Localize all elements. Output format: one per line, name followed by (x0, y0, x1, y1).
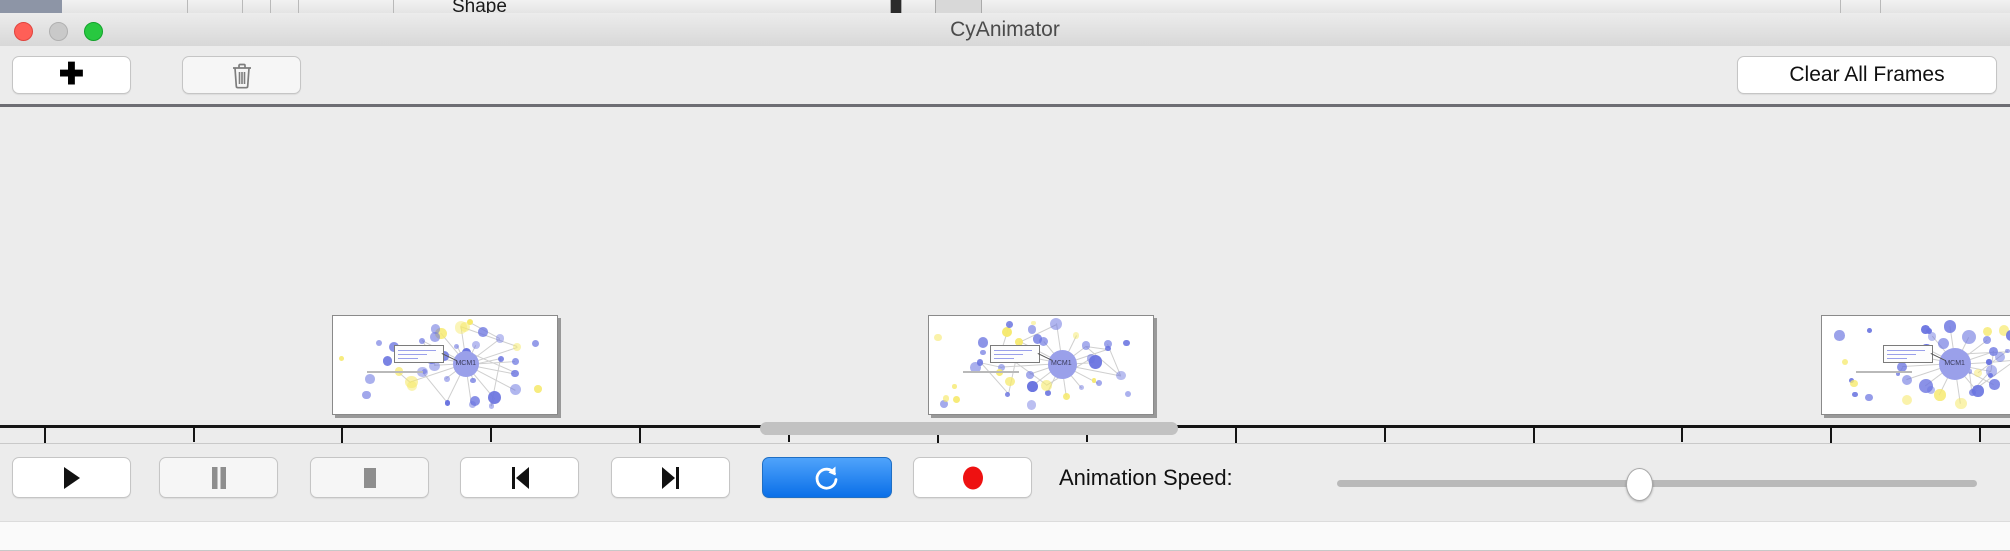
tick-minor (193, 428, 195, 442)
network-node (510, 384, 521, 395)
play-button[interactable] (12, 457, 131, 498)
network-node (470, 378, 476, 384)
network-node (1989, 379, 1999, 389)
network-hub-label: MCM1 (455, 360, 476, 367)
network-node (532, 340, 539, 347)
network-node (1050, 318, 1063, 331)
annotation-text-line (994, 350, 1032, 351)
network-node (362, 391, 370, 399)
network-node (1944, 320, 1956, 332)
network-node (339, 356, 344, 361)
network-node (511, 370, 519, 378)
tick-minor (1681, 428, 1683, 442)
network-node (472, 341, 480, 349)
skip-start-icon (508, 466, 532, 490)
annotation-text-line (994, 354, 1023, 355)
tick-minor (1384, 428, 1386, 442)
clear-all-frames-label: Clear All Frames (1789, 63, 1944, 87)
network-node (1028, 325, 1037, 334)
timeline-scroll-track[interactable] (0, 521, 2010, 551)
network-node (1125, 391, 1131, 397)
network-node (1005, 377, 1015, 387)
annotation-text-line (398, 358, 418, 359)
annotation-text-line (398, 354, 427, 355)
animation-speed-label: Animation Speed: (1059, 465, 1233, 491)
network-node (1865, 394, 1873, 402)
title-bar[interactable]: CyAnimator (0, 13, 2010, 47)
trash-icon (230, 62, 254, 89)
network-hub-label: MCM1 (1944, 360, 1965, 367)
clear-all-frames-button[interactable]: Clear All Frames (1737, 56, 1997, 94)
network-node (1955, 398, 1966, 409)
network-node (1005, 392, 1010, 397)
plus-icon: ✚ (59, 60, 84, 90)
skip-end-icon (659, 466, 683, 490)
network-node (496, 334, 504, 342)
network-annotation (990, 345, 1040, 363)
network-node (1988, 373, 1993, 378)
background-window-sidebar (0, 0, 62, 13)
network-node (1027, 381, 1038, 392)
network-node (1850, 380, 1858, 388)
background-window-segment (270, 0, 299, 13)
play-icon (62, 466, 82, 490)
annotation-text-line (1887, 350, 1925, 351)
network-node (1087, 354, 1096, 363)
stop-button[interactable] (310, 457, 429, 498)
network-node (980, 350, 985, 355)
network-node (1123, 340, 1129, 346)
network-node (445, 400, 451, 406)
network-node (1867, 328, 1872, 333)
network-node (1962, 330, 1976, 344)
network-node (1902, 375, 1913, 386)
network-node (489, 403, 495, 409)
network-node (1986, 359, 1991, 364)
background-window-marker (890, 0, 902, 13)
annotation-text-line (1887, 358, 1907, 359)
playback-controls: Animation Speed: (0, 443, 2010, 511)
annotation-text-line (1887, 354, 1916, 355)
network-node (1852, 392, 1857, 397)
skip-end-button[interactable] (611, 457, 730, 498)
network-thumbnail: MCM1 (929, 316, 1153, 414)
network-node (1104, 340, 1112, 348)
network-node (1834, 330, 1845, 341)
network-node (1983, 336, 1991, 344)
record-icon (961, 465, 985, 491)
network-thumbnail: MCM1 (1822, 316, 2010, 414)
stop-icon (360, 466, 380, 490)
network-node (1116, 371, 1125, 380)
network-node (1073, 332, 1080, 339)
network-node (470, 396, 480, 406)
timeline-frame[interactable]: MCM1 (332, 315, 558, 415)
pause-icon (209, 466, 229, 490)
network-annotation (394, 345, 444, 363)
cyanimator-window: Shape CyAnimator ✚ Clear All Frame (0, 0, 2010, 510)
network-node (1002, 327, 1012, 337)
loop-button[interactable] (762, 457, 892, 498)
network-node (534, 385, 542, 393)
network-node (1096, 380, 1102, 386)
background-window-segment (242, 0, 271, 13)
network-caption (367, 371, 423, 373)
network-node (2006, 330, 2010, 341)
network-node (978, 337, 988, 347)
network-node (512, 358, 519, 365)
network-caption (963, 371, 1019, 373)
background-window-segment (298, 0, 394, 13)
network-node (1006, 321, 1013, 328)
network-node (365, 374, 375, 384)
network-node (407, 381, 417, 391)
network-node (1063, 393, 1070, 400)
background-window-label: Shape (452, 0, 507, 13)
network-node (953, 396, 960, 403)
network-node (2005, 349, 2009, 353)
network-node (943, 395, 949, 401)
network-node (1045, 390, 1051, 396)
network-node (1027, 400, 1037, 410)
network-caption (1856, 371, 1912, 373)
network-node (1041, 380, 1052, 391)
network-node (1092, 378, 1097, 383)
background-window-segment (1840, 0, 1881, 13)
network-node (1938, 338, 1949, 349)
network-node (430, 332, 440, 342)
timeline-scroll-thumb[interactable] (760, 422, 1178, 435)
network-node (460, 322, 470, 332)
network-node (376, 340, 382, 346)
animation-speed-slider[interactable] (1337, 480, 1977, 487)
timeline-frame[interactable]: MCM1 (1821, 315, 2010, 415)
window-title: CyAnimator (0, 13, 2010, 46)
animation-speed-thumb[interactable] (1626, 468, 1653, 501)
network-node (383, 356, 392, 365)
network-node (1983, 327, 1992, 336)
background-window-segment (1800, 0, 1841, 13)
tick-minor (490, 428, 492, 442)
annotation-text-line (994, 358, 1014, 359)
network-edge (461, 326, 518, 347)
network-node (1974, 369, 1982, 377)
network-node (1031, 321, 1036, 326)
background-window-tab (935, 0, 982, 13)
network-node (952, 384, 957, 389)
add-frame-button[interactable]: ✚ (12, 56, 131, 94)
network-node (1026, 371, 1034, 379)
network-node (1934, 389, 1945, 400)
tick-minor (1979, 428, 1981, 442)
background-window-segment (187, 0, 243, 13)
annotation-text-line (398, 350, 436, 351)
record-button[interactable] (913, 457, 1032, 498)
skip-start-button[interactable] (460, 457, 579, 498)
network-node (513, 343, 521, 351)
network-thumbnail: MCM1 (333, 316, 557, 414)
network-node (1842, 359, 1849, 366)
background-window-strip: Shape (0, 0, 2010, 13)
delete-frame-button[interactable] (182, 56, 301, 94)
network-node (1969, 389, 1976, 396)
network-node (934, 334, 941, 341)
network-node (478, 327, 488, 337)
network-node (1079, 385, 1085, 391)
background-window-segment (62, 0, 188, 13)
network-node (419, 338, 425, 344)
network-node (1902, 395, 1912, 405)
toolbar: ✚ Clear All Frames (0, 46, 2010, 104)
network-node (1033, 334, 1043, 344)
pause-button[interactable] (159, 457, 278, 498)
network-hub-label: MCM1 (1051, 360, 1072, 367)
network-node (444, 376, 450, 382)
timeline-frame[interactable]: MCM1 (928, 315, 1154, 415)
network-annotation (1883, 345, 1933, 363)
loop-icon (814, 464, 840, 492)
